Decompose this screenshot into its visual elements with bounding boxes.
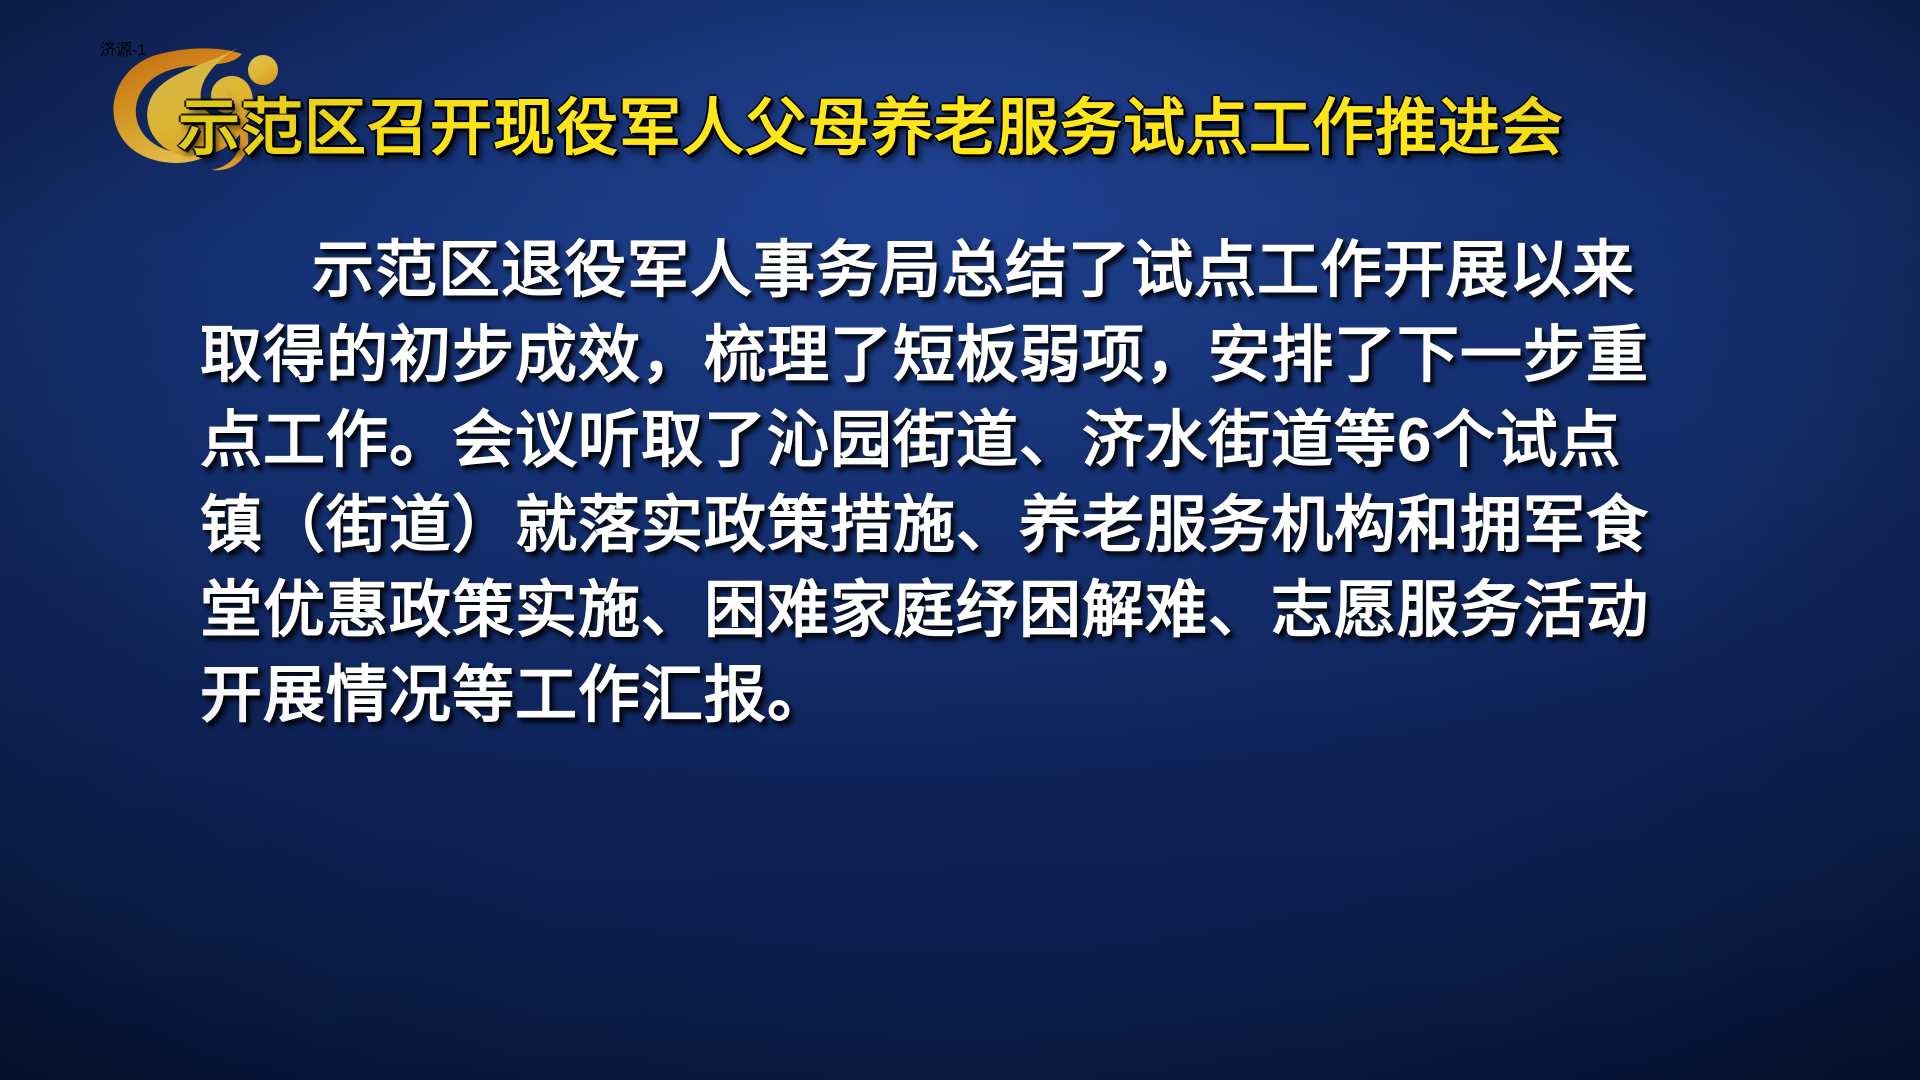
body-line: 镇（街道）就落实政策措施、养老服务机构和拥军食 bbox=[200, 483, 1760, 568]
body-line: 堂优惠政策实施、困难家庭纾困解难、志愿服务活动 bbox=[200, 568, 1760, 653]
body-line: 开展情况等工作汇报。 bbox=[200, 653, 1760, 738]
body-line: 取得的初步成效，梳理了短板弱项，安排了下一步重 bbox=[200, 313, 1760, 398]
body-line: 点工作。会议听取了沁园街道、济水街道等6个试点 bbox=[200, 398, 1760, 483]
broadcast-graphic-screen: 济源-1 示范区召开现役军人父母养老服务试点工作推进会 示范区退役军人事务局总结… bbox=[0, 0, 1920, 1080]
body-copy: 示范区退役军人事务局总结了试点工作开展以来 取得的初步成效，梳理了短板弱项，安排… bbox=[200, 228, 1760, 738]
body-line: 示范区退役军人事务局总结了试点工作开展以来 bbox=[200, 228, 1760, 313]
page-title: 示范区召开现役军人父母养老服务试点工作推进会 bbox=[178, 96, 1878, 161]
